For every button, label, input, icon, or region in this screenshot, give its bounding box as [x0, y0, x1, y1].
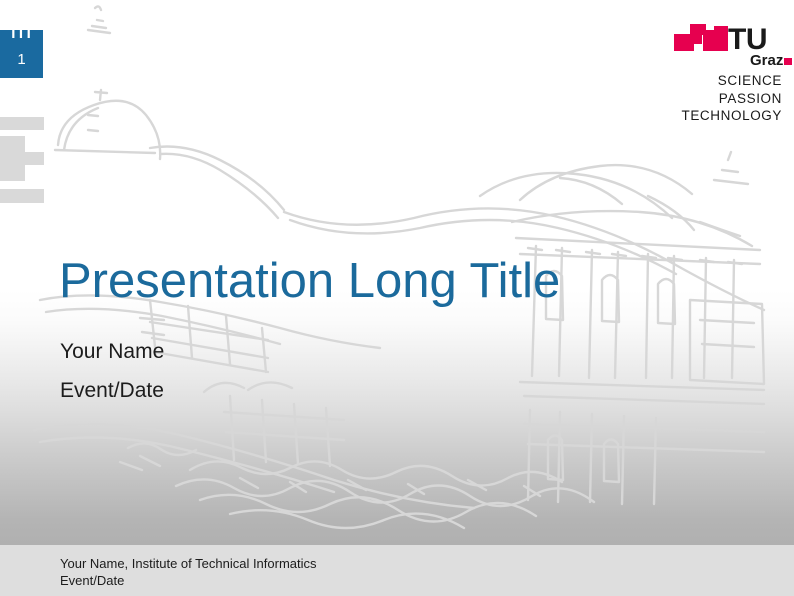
decorative-bar-arm	[0, 152, 44, 165]
footer-line-event: Event/Date	[60, 573, 124, 589]
slide-number-badge: ITI 1	[0, 30, 43, 78]
event-date: Event/Date	[60, 378, 164, 404]
presenter-name: Your Name	[60, 339, 164, 365]
tu-graz-logo-mark: TU Graz	[674, 22, 794, 68]
decorative-bar-bottom	[0, 189, 44, 203]
tu-graz-claim: SCIENCE PASSION TECHNOLOGY	[660, 72, 782, 125]
footer-line-affiliation: Your Name, Institute of Technical Inform…	[60, 556, 317, 572]
claim-line-passion: PASSION	[660, 90, 782, 108]
tu-graz-logo: TU Graz SCIENCE PASSION TECHNOLOGY	[660, 22, 794, 134]
claim-line-science: SCIENCE	[660, 72, 782, 90]
decorative-bar-top	[0, 117, 44, 130]
slide-number-label: 1	[0, 52, 43, 67]
slide-title: Presentation Long Title	[59, 252, 560, 310]
presentation-slide: ITI 1 TU Graz SCIENCE PASSION TECHNOLOGY	[0, 0, 794, 596]
claim-line-technology: TECHNOLOGY	[660, 107, 782, 125]
svg-text:Graz: Graz	[750, 52, 783, 68]
institute-abbr-label: ITI	[0, 26, 43, 41]
